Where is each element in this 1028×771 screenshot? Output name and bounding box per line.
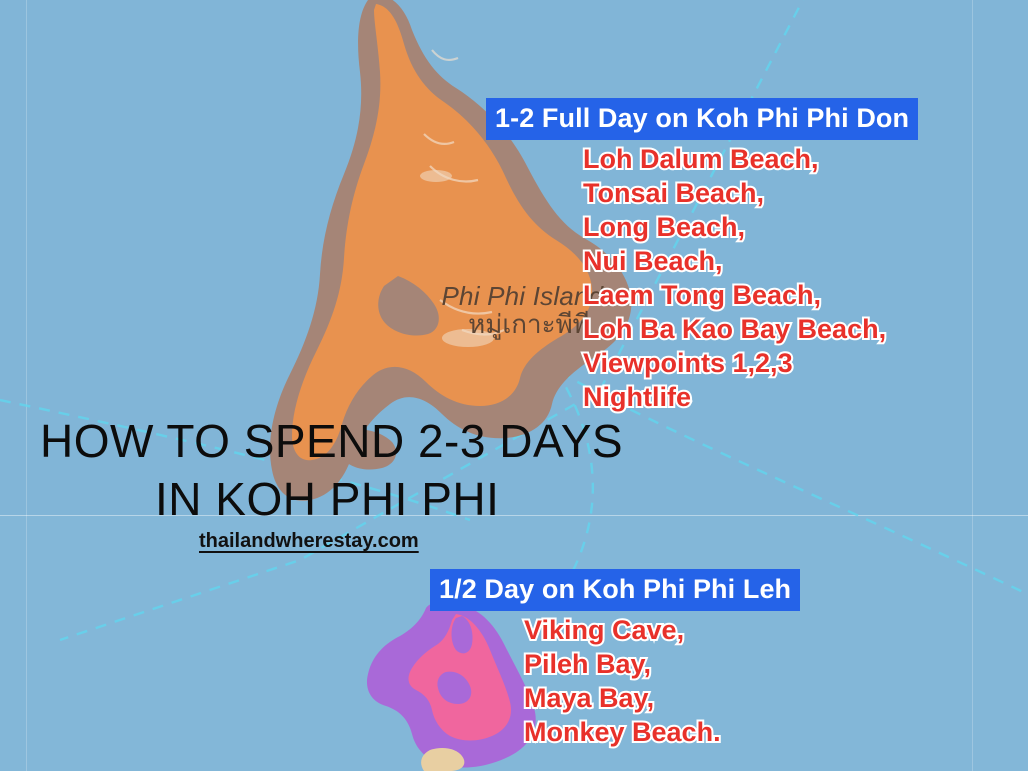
activity-list-phi-phi-don: Loh Dalum Beach, Tonsai Beach, Long Beac… — [583, 142, 886, 414]
section-banner-phi-phi-don[interactable]: 1-2 Full Day on Koh Phi Phi Don — [486, 98, 918, 140]
page-title-line-2: IN KOH PHI PHI — [155, 470, 623, 528]
section-banner-phi-phi-leh[interactable]: 1/2 Day on Koh Phi Phi Leh — [430, 569, 800, 611]
list-item: Nightlife — [583, 380, 886, 414]
list-item: Monkey Beach. — [524, 715, 721, 749]
list-item: Tonsai Beach, — [583, 176, 886, 210]
list-item: Laem Tong Beach, — [583, 278, 886, 312]
list-item: Nui Beach, — [583, 244, 886, 278]
list-item: Viking Cave, — [524, 613, 721, 647]
page-title-line-1: HOW TO SPEND 2-3 DAYS — [40, 412, 623, 470]
website-url[interactable]: thailandwherestay.com — [199, 530, 419, 553]
list-item: Loh Dalum Beach, — [583, 142, 886, 176]
list-item: Viewpoints 1,2,3 — [583, 346, 886, 380]
map-poster: Phi Phi Islands หมู่เกาะพีพี 1-2 Full Da… — [0, 0, 1028, 771]
list-item: Maya Bay, — [524, 681, 721, 715]
activity-list-phi-phi-leh: Viking Cave, Pileh Bay, Maya Bay, Monkey… — [524, 613, 721, 749]
list-item: Pileh Bay, — [524, 647, 721, 681]
list-item: Long Beach, — [583, 210, 886, 244]
list-item: Loh Ba Kao Bay Beach, — [583, 312, 886, 346]
page-title: HOW TO SPEND 2-3 DAYS IN KOH PHI PHI — [40, 412, 623, 528]
